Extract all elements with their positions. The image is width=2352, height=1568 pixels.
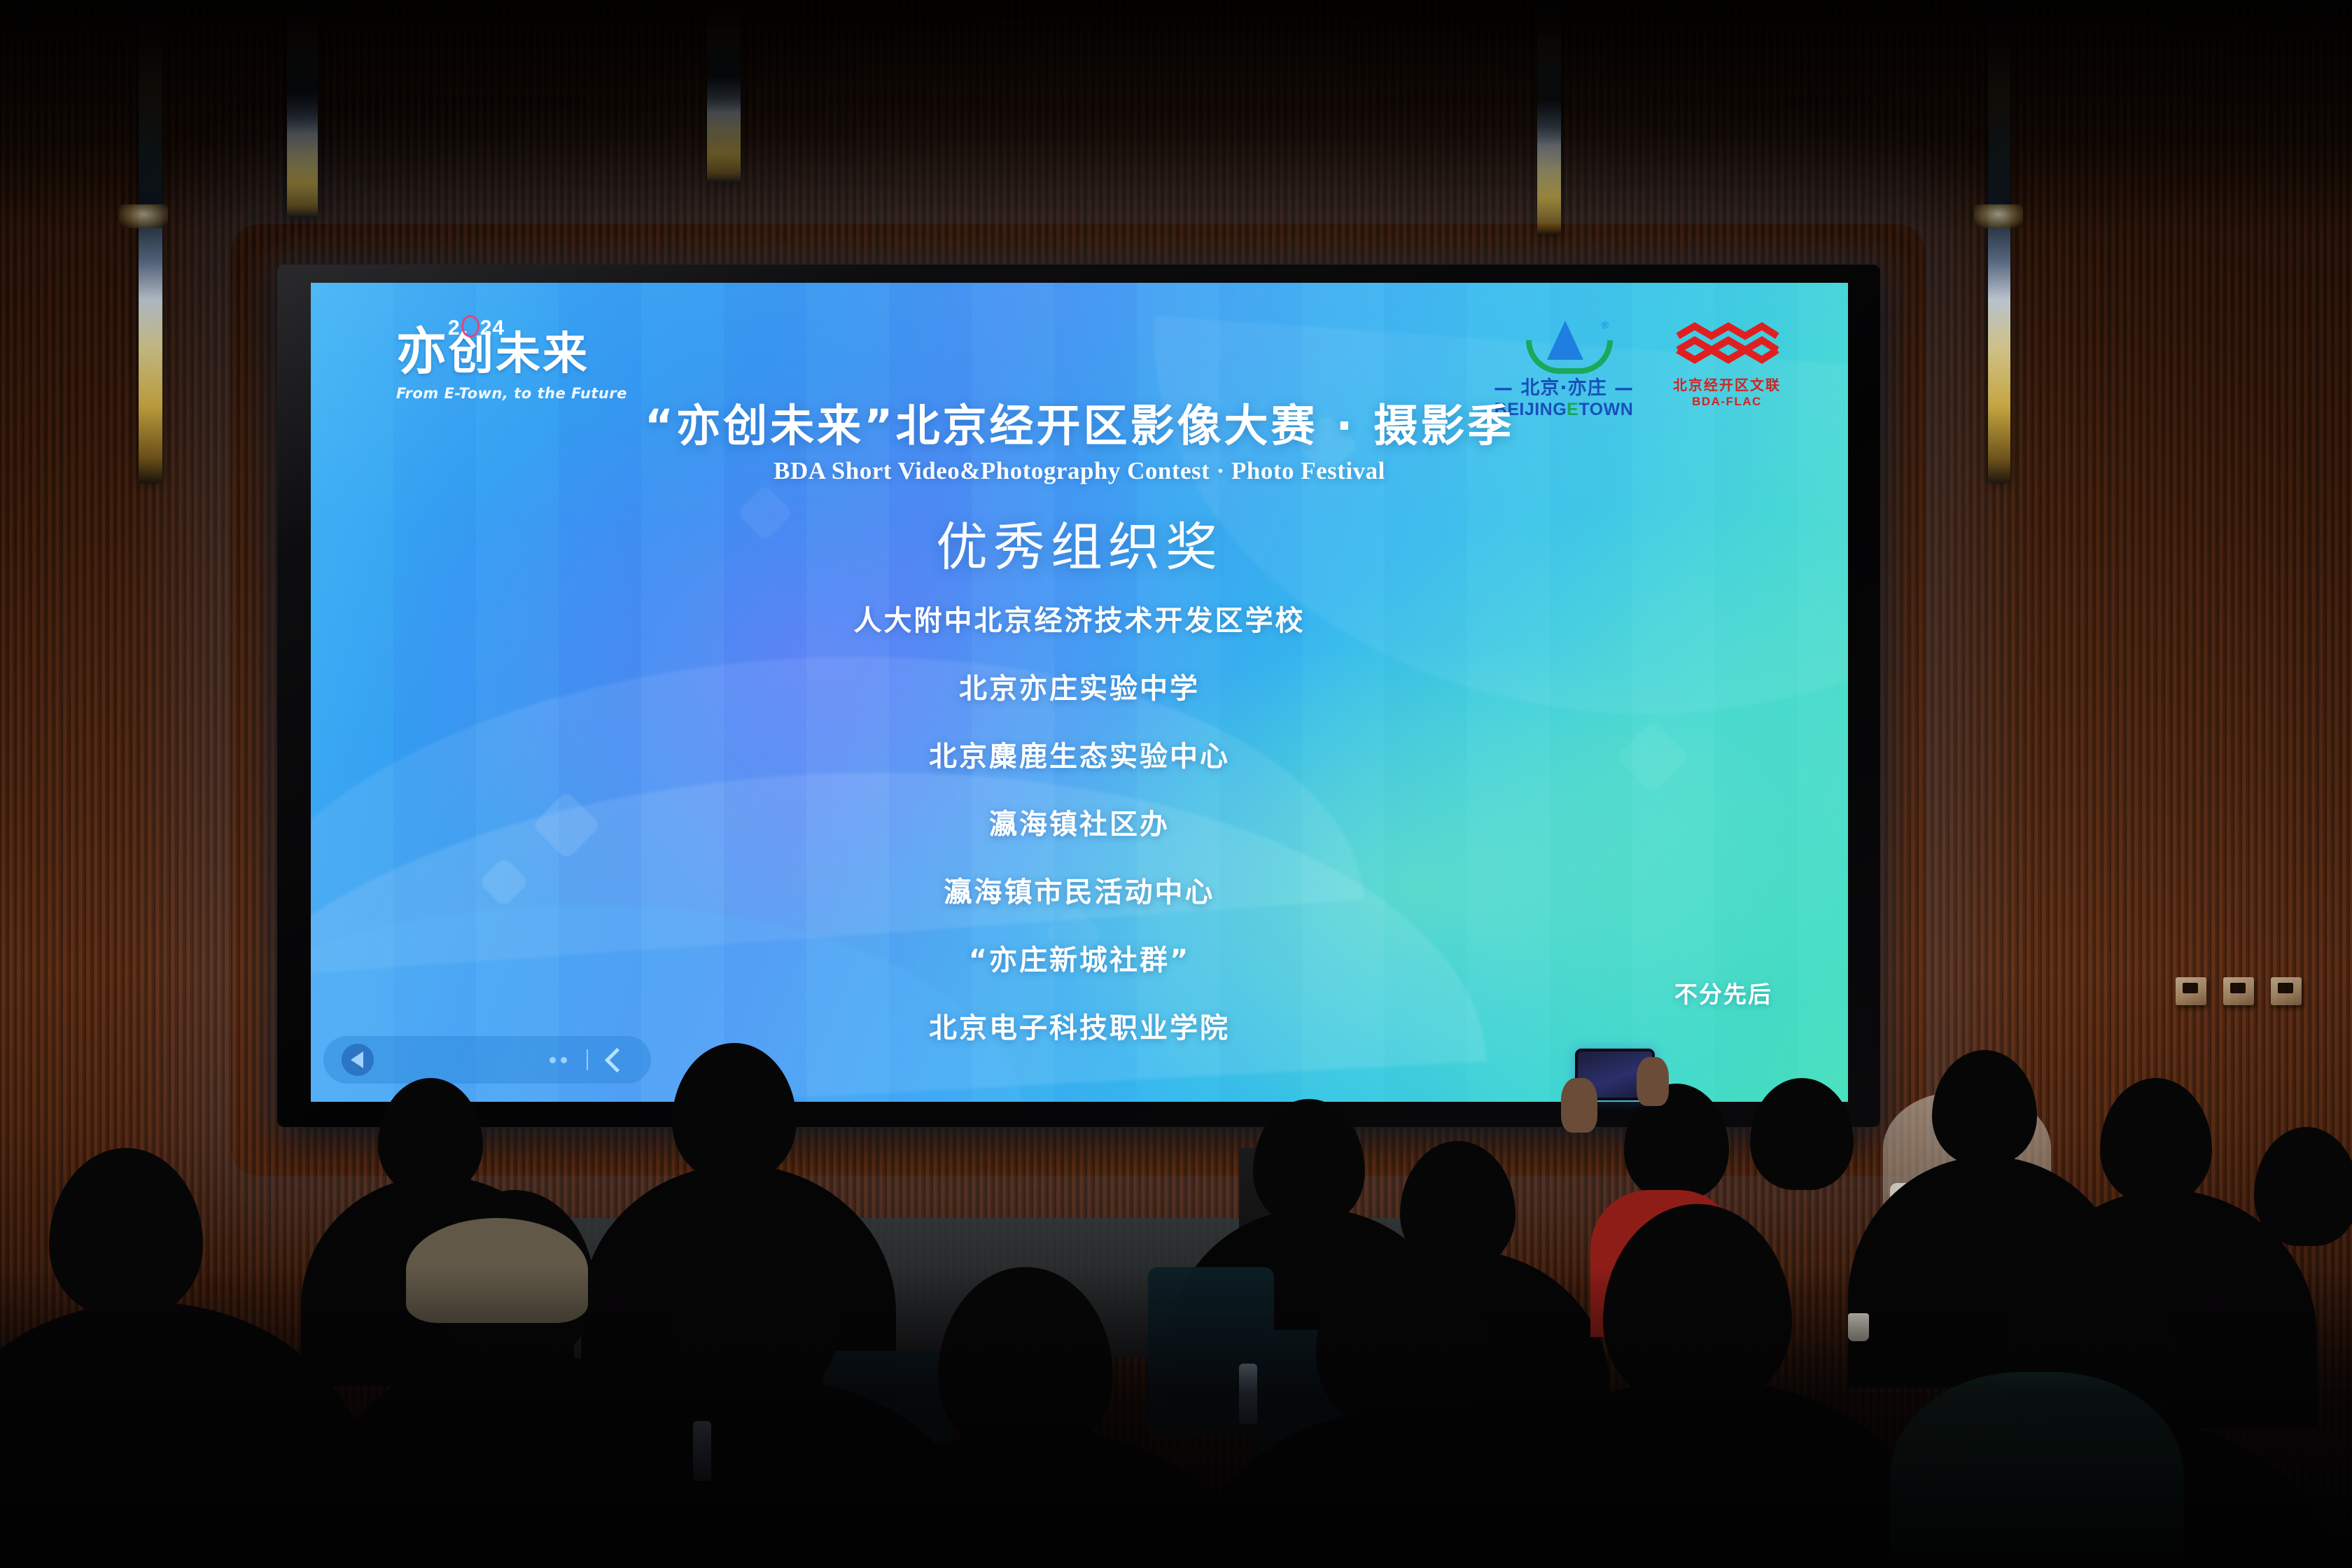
award-heading: 优秀组织奖 xyxy=(311,505,1848,580)
headline-block: “亦创未来”北京经开区影像大赛 · 摄影季 BDA Short Video&Ph… xyxy=(311,402,1848,485)
winner-item: 瀛海镇社区办 xyxy=(311,801,1848,842)
order-note: 不分先后 xyxy=(1674,976,1772,1009)
triangle-left-icon xyxy=(351,1051,363,1068)
control-divider xyxy=(587,1049,588,1070)
led-screen-bezel: 亦 创 未 来 224 From E-Town, to the Future xyxy=(277,265,1880,1127)
slide-content: 亦 创 未 来 224 From E-Town, to the Future xyxy=(311,283,1848,1102)
logo-tagline: From E-Town, to the Future xyxy=(396,385,697,402)
yichuang-weilai-logo: 亦 创 未 来 224 From E-Town, to the Future xyxy=(396,326,697,402)
logo-year: 224 xyxy=(448,315,505,339)
previous-slide-button[interactable] xyxy=(342,1044,374,1076)
conference-hall-scene: 亦 创 未 来 224 From E-Town, to the Future xyxy=(0,0,2352,1568)
winner-item: 北京麋鹿生态实验中心 xyxy=(311,734,1848,774)
contest-subtitle: BDA Short Video&Photography Contest · Ph… xyxy=(311,457,1848,485)
flac-chinese-name: 北京经开区文联 xyxy=(1673,374,1781,394)
chevron-left-icon xyxy=(604,1047,629,1072)
dot xyxy=(561,1057,567,1063)
pa-speaker xyxy=(1239,1148,1292,1295)
etown-mark-icon: ® xyxy=(1522,319,1606,368)
winner-item: “亦庄新城社群” xyxy=(311,937,1848,978)
dot xyxy=(549,1057,556,1063)
registered-mark-icon: ® xyxy=(1602,319,1609,330)
winner-item: 人大附中北京经济技术开发区学校 xyxy=(311,598,1848,638)
winner-item: 瀛海镇市民活动中心 xyxy=(311,869,1848,910)
more-options-button[interactable] xyxy=(542,1044,574,1076)
logo-characters: 亦 创 未 来 224 xyxy=(396,326,697,377)
collapse-bar-button[interactable] xyxy=(601,1044,633,1076)
etown-chinese-name: — 北京·亦庄 — xyxy=(1494,372,1634,400)
more-dots-icon xyxy=(549,1057,567,1063)
winner-item: 北京亦庄实验中学 xyxy=(311,666,1848,706)
presentation-control-bar[interactable] xyxy=(323,1036,651,1084)
contest-title: “亦创未来”北京经开区影像大赛 · 摄影季 xyxy=(311,402,1848,450)
bda-flac-logo: 北京经开区文联 BDA-FLAC xyxy=(1673,319,1781,409)
floor-area xyxy=(448,1218,1498,1358)
logo-year-ring xyxy=(461,315,479,337)
flac-wave-icon xyxy=(1674,322,1780,367)
logo-char-yi: 亦 xyxy=(396,326,449,377)
presentation-screen[interactable]: 亦 创 未 来 224 From E-Town, to the Future xyxy=(311,283,1848,1102)
logo-char-lai: 来 xyxy=(542,332,589,377)
etown-peak-shape xyxy=(1547,321,1583,360)
winners-list: 人大附中北京经济技术开发区学校 北京亦庄实验中学 北京麋鹿生态实验中心 瀛海镇社… xyxy=(311,598,1848,1073)
play-back-icon xyxy=(342,1044,374,1076)
